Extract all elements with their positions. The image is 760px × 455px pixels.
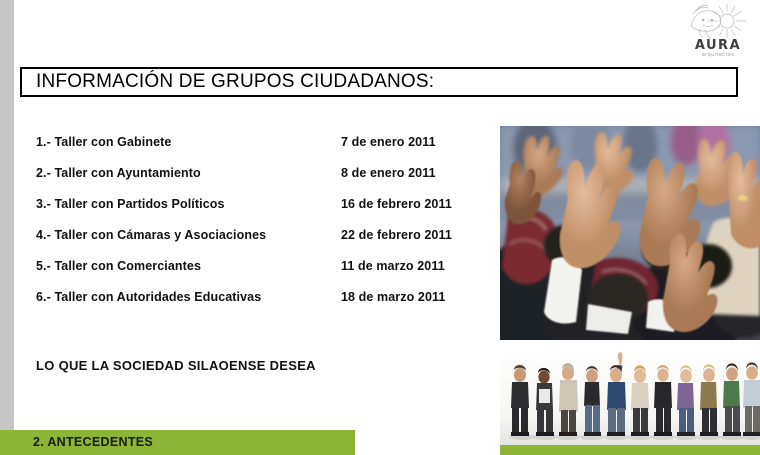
- workshop-date: 16 de febrero 2011: [341, 197, 452, 211]
- workshop-list: 1.- Taller con Gabinete 7 de enero 2011 …: [36, 126, 486, 312]
- page-title: INFORMACIÓN DE GRUPOS CIUDADANOS:: [22, 71, 434, 93]
- workshop-label: 1.- Taller con Gabinete: [36, 135, 341, 149]
- slide-title-box: INFORMACIÓN DE GRUPOS CIUDADANOS:: [20, 67, 738, 97]
- workshop-label: 3.- Taller con Partidos Políticos: [36, 197, 341, 211]
- workshop-date: 7 de enero 2011: [341, 135, 436, 149]
- footer-section-label: 2. ANTECEDENTES: [33, 435, 153, 449]
- logo-wordmark: AURA: [682, 40, 754, 52]
- workshop-label: 2.- Taller con Ayuntamiento: [36, 166, 341, 180]
- list-item: 4.- Taller con Cámaras y Asociaciones 22…: [36, 219, 486, 250]
- raised-hands-crowd-photo: [500, 126, 760, 340]
- sun-face-emblem-icon: [687, 2, 749, 40]
- line-of-people-photo: [500, 348, 760, 445]
- workshop-label: 6.- Taller con Autoridades Educativas: [36, 290, 341, 304]
- workshop-date: 11 de marzo 2011: [341, 259, 445, 273]
- list-item: 6.- Taller con Autoridades Educativas 18…: [36, 281, 486, 312]
- workshop-date: 18 de marzo 2011: [341, 290, 445, 304]
- tagline-text: LO QUE LA SOCIEDAD SILAOENSE DESEA: [36, 358, 316, 373]
- workshop-date: 8 de enero 2011: [341, 166, 436, 180]
- list-item: 2.- Taller con Ayuntamiento 8 de enero 2…: [36, 157, 486, 188]
- list-item: 1.- Taller con Gabinete 7 de enero 2011: [36, 126, 486, 157]
- workshop-label: 5.- Taller con Comerciantes: [36, 259, 341, 273]
- workshop-label: 4.- Taller con Cámaras y Asociaciones: [36, 228, 341, 242]
- workshop-date: 22 de febrero 2011: [341, 228, 452, 242]
- logo-tagline: arquitectos: [682, 52, 754, 59]
- aura-logo: AURA arquitectos: [682, 2, 754, 60]
- left-accent-strip: [0, 0, 14, 430]
- footer-accent-strip-right: [500, 445, 760, 455]
- list-item: 3.- Taller con Partidos Políticos 16 de …: [36, 188, 486, 219]
- list-item: 5.- Taller con Comerciantes 11 de marzo …: [36, 250, 486, 281]
